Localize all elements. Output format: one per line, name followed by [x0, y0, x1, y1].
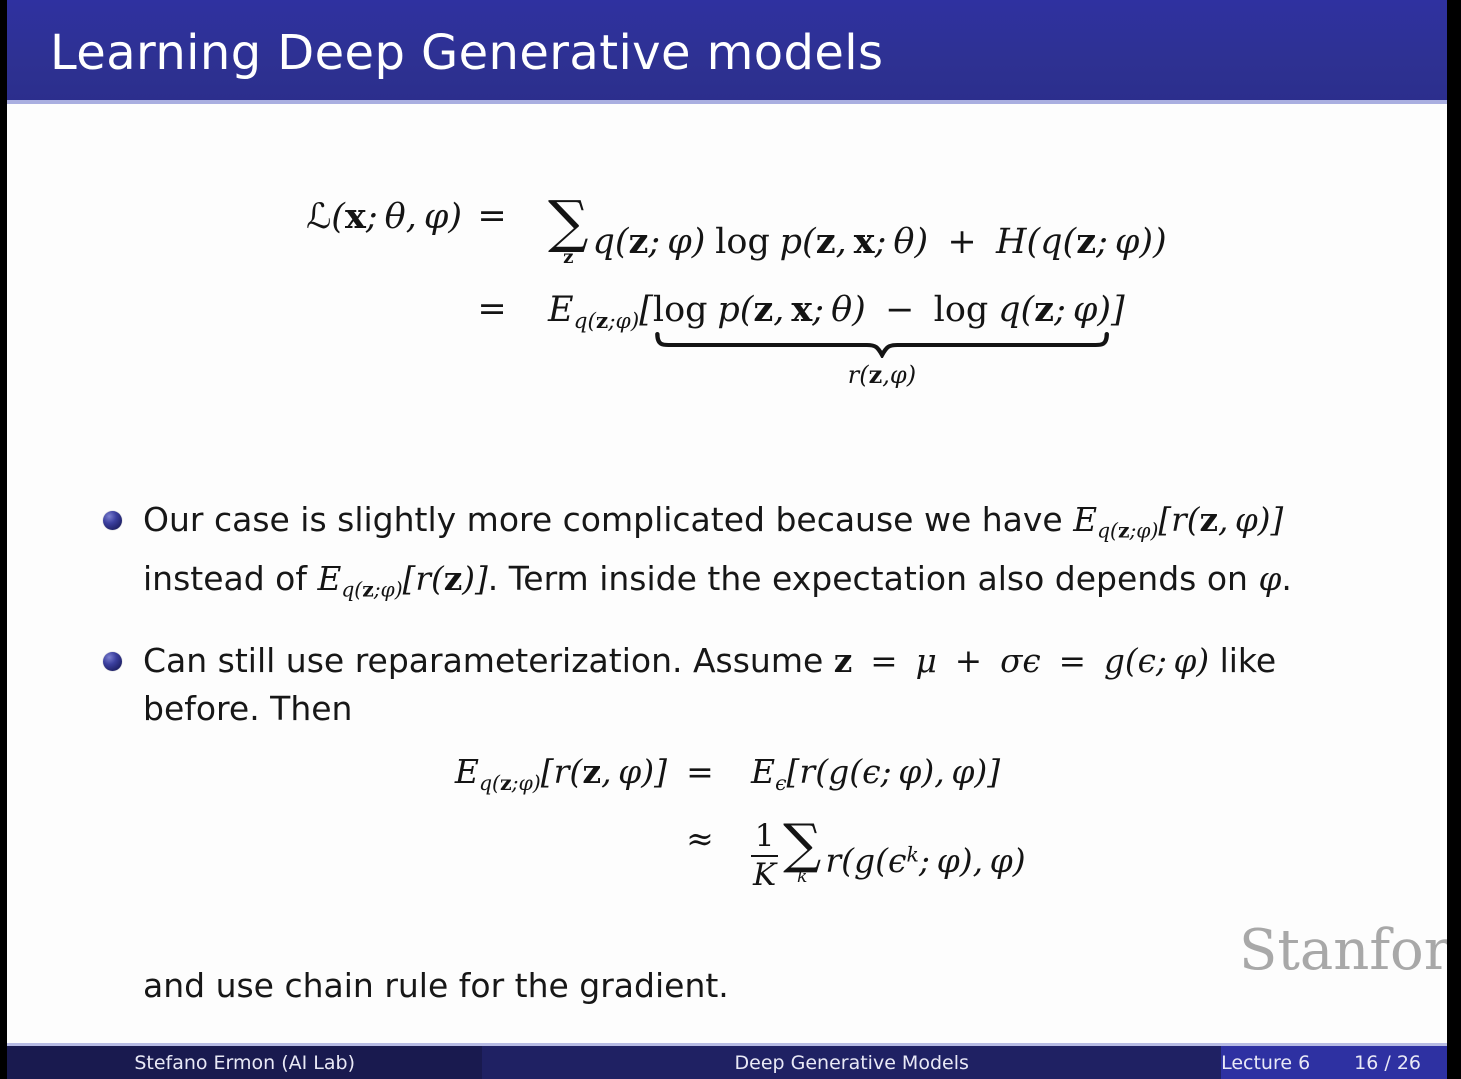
list-item: Can still use reparameterization. Assume… — [7, 637, 1447, 732]
elbo-rhs-2: Eq(z;φ)[ logp(z, x; θ)−logq(z; φ) r(z,φ)… — [522, 289, 1125, 334]
reparam-line-2: ≈ 1 K ∑ k r(g(ϵk; φ), φ) — [7, 819, 1447, 893]
right-letterbox-bar — [1447, 0, 1461, 1079]
bullet-1-text-part1: Our case is slightly more complicated be… — [143, 500, 1073, 539]
equation-block-elbo: ℒ(x; θ, φ) = ∑ z q(z; φ)logp(z, x; θ)+H(… — [7, 196, 1447, 335]
underbrace-label: r(z,φ) — [653, 360, 1111, 389]
bullet-2-text-part1: Can still use reparameterization. Assume — [143, 641, 834, 680]
bullet-1-text-part3: . Term inside the expectation also depen… — [488, 559, 1259, 598]
footer-page-number: 16 / 26 — [1354, 1052, 1421, 1074]
slide-page: Learning Deep Generative models ℒ(x; θ, … — [7, 0, 1447, 1079]
list-item: Our case is slightly more complicated be… — [7, 496, 1447, 613]
equation-line-2: = Eq(z;φ)[ logp(z, x; θ)−logq(z; φ) r(z,… — [7, 289, 1447, 334]
slide-root: Learning Deep Generative models ℒ(x; θ, … — [0, 0, 1461, 1079]
bullet-1-math-3: φ — [1258, 560, 1281, 598]
underbrace-group: logp(z, x; θ)−logq(z; φ) r(z,φ) — [653, 289, 1111, 330]
reparam-sum-body: r(g(ϵk; φ), φ) — [825, 841, 1025, 880]
elbo-relation-1: = — [462, 196, 522, 236]
reparam-relation-2: ≈ — [667, 819, 733, 858]
bullet-dot-icon — [103, 511, 122, 530]
expectation-operator: Eq(z;φ) — [548, 290, 639, 330]
stanford-watermark-logo: Stanfor — [1239, 918, 1447, 983]
bullet-1-text-part2: instead of — [143, 559, 317, 598]
closing-text: and use chain rule for the gradient. — [143, 966, 729, 1005]
elbo-lhs: ℒ(x; θ, φ) — [7, 196, 462, 237]
footer-author: Stefano Ermon (AI Lab) — [7, 1046, 482, 1079]
reparam-rhs-1: Eϵ[r(g(ϵ; φ), φ)] — [733, 752, 1000, 795]
fraction-one-over-k: 1 K — [751, 820, 778, 893]
bullet-list: Our case is slightly more complicated be… — [7, 496, 1447, 756]
page-title: Learning Deep Generative models — [50, 26, 883, 80]
footer-title: Deep Generative Models — [482, 1046, 1221, 1079]
title-banner: Learning Deep Generative models — [7, 0, 1447, 104]
reparam-rhs-2: 1 K ∑ k r(g(ϵk; φ), φ) — [733, 819, 1026, 893]
footer-meta: Lecture 6 16 / 26 — [1221, 1046, 1447, 1079]
slide-footer: Stefano Ermon (AI Lab) Deep Generative M… — [7, 1046, 1447, 1079]
bullet-1-math-2: Eq(z;φ)[r(z)] — [317, 560, 487, 598]
bullet-2-math-1: z=μ+σϵ=g(ϵ; φ) — [834, 642, 1209, 680]
bullet-1-text-part4: . — [1281, 559, 1292, 598]
summation-symbol: ∑ k — [783, 819, 821, 886]
left-letterbox-bar — [0, 0, 7, 1079]
equation-line-1: ℒ(x; θ, φ) = ∑ z q(z; φ)logp(z, x; θ)+H(… — [7, 196, 1447, 267]
reparam-line-1: Eq(z;φ)[r(z, φ)] = Eϵ[r(g(ϵ; φ), φ)] — [7, 752, 1447, 795]
footer-topline — [7, 1043, 1447, 1046]
title-banner-edge — [7, 100, 1447, 104]
summation-symbol: ∑ z — [548, 196, 588, 267]
elbo-relation-2: = — [462, 289, 522, 329]
equation-block-reparam: Eq(z;φ)[r(z, φ)] = Eϵ[r(g(ϵ; φ), φ)] ≈ 1… — [7, 752, 1447, 893]
footer-lecture: Lecture 6 — [1221, 1052, 1310, 1074]
bullet-1-math-1: Eq(z;φ)[r(z, φ)] — [1073, 501, 1283, 539]
elbo-rhs-1: ∑ z q(z; φ)logp(z, x; θ)+H(q(z; φ)) — [522, 196, 1167, 267]
reparam-relation-1: = — [667, 752, 733, 791]
reparam-lhs: Eq(z;φ)[r(z, φ)] — [7, 752, 667, 795]
underbrace-icon — [653, 332, 1111, 358]
bullet-dot-icon — [103, 652, 122, 671]
